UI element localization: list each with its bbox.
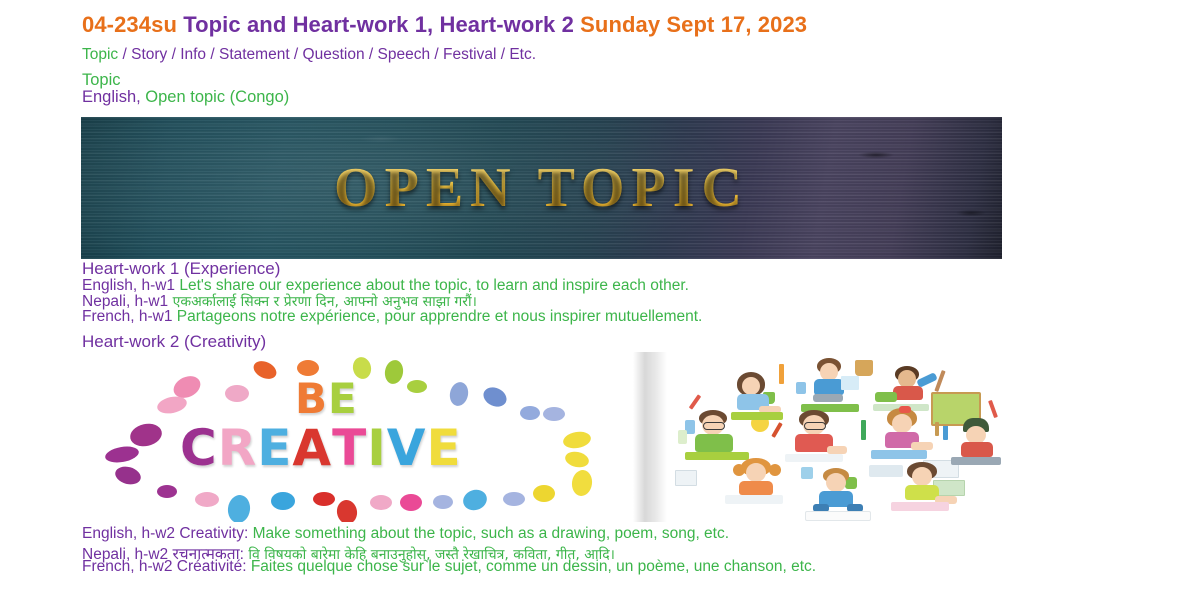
splash-drop bbox=[251, 358, 280, 383]
child-body bbox=[739, 481, 773, 495]
splash-drop bbox=[400, 494, 422, 511]
topic-lang-label: English, bbox=[82, 88, 141, 106]
splash-drop bbox=[128, 421, 164, 449]
word-creative: CREATIVE bbox=[180, 419, 462, 477]
hw1-french-text: Partageons notre expérience, pour appren… bbox=[172, 308, 702, 325]
letter-t: T bbox=[332, 419, 367, 477]
child-figure bbox=[871, 408, 937, 462]
letter-c: C bbox=[180, 419, 218, 477]
be-creative-graphic: BE CREATIVE bbox=[85, 352, 625, 522]
supply-paper bbox=[841, 376, 859, 390]
child-head bbox=[746, 463, 766, 482]
child-figure bbox=[805, 468, 875, 520]
child-hair-bow bbox=[899, 406, 911, 413]
child-head bbox=[912, 467, 932, 486]
splash-drop bbox=[370, 495, 392, 510]
splash-drop bbox=[460, 487, 489, 513]
heart-work-1-title: Heart-work 1 (Experience) bbox=[82, 259, 280, 279]
page-title: 04-234su Topic and Heart-work 1, Heart-w… bbox=[82, 12, 807, 38]
splash-drop bbox=[480, 384, 509, 410]
child-glasses bbox=[804, 422, 826, 430]
splash-drop bbox=[533, 485, 555, 502]
child-figure bbox=[801, 358, 863, 416]
splash-drop bbox=[407, 380, 427, 393]
child-body bbox=[961, 442, 993, 457]
splash-drop bbox=[433, 495, 453, 509]
child-leg bbox=[813, 394, 843, 402]
splash-drop bbox=[383, 359, 405, 386]
child-mat bbox=[871, 450, 927, 459]
hw2-french-text: Faites quelque chose sur le sujet, comme… bbox=[247, 558, 817, 575]
child-pigtail bbox=[769, 464, 781, 476]
letter-e: E bbox=[257, 419, 292, 477]
supply-paper bbox=[675, 470, 697, 486]
child-figure bbox=[783, 410, 851, 464]
letter-r: R bbox=[218, 419, 258, 477]
child-pigtail bbox=[733, 464, 745, 476]
title-date: Sunday Sept 17, 2023 bbox=[580, 12, 807, 37]
splash-drop bbox=[448, 380, 471, 407]
category-first: Topic bbox=[82, 46, 118, 63]
letter-i: I bbox=[367, 419, 387, 477]
child-figure bbox=[725, 458, 791, 506]
child-head bbox=[826, 473, 846, 492]
splash-drop bbox=[562, 430, 592, 451]
splash-drop bbox=[543, 407, 565, 421]
hw1-french-label: French, h-w1 bbox=[82, 308, 172, 325]
supply-toy-car bbox=[875, 392, 897, 402]
splash-drop bbox=[156, 394, 189, 416]
topic-value-line: English, Open topic (Congo) bbox=[82, 88, 289, 107]
title-main: Topic and Heart-work 1, Heart-work 2 bbox=[177, 12, 580, 37]
splash-drop bbox=[503, 492, 525, 506]
supply-pencil bbox=[988, 400, 998, 418]
splash-drop bbox=[104, 444, 140, 465]
child-mat bbox=[785, 454, 843, 462]
splash-drop bbox=[225, 385, 249, 402]
child-leg bbox=[827, 446, 847, 454]
splash-drop bbox=[271, 492, 295, 510]
child-leg bbox=[916, 372, 938, 388]
splash-drop bbox=[335, 498, 359, 522]
be-creative-illustration: BE CREATIVE bbox=[85, 352, 625, 522]
splash-drop bbox=[157, 485, 177, 498]
heart-work-2-english-line: English, h-w2 Creativity: Make something… bbox=[82, 525, 729, 543]
open-topic-banner-image: OPEN TOPIC bbox=[81, 117, 1002, 259]
child-body bbox=[893, 386, 923, 400]
heart-work-2-title: Heart-work 2 (Creativity) bbox=[82, 332, 266, 352]
child-figure bbox=[685, 410, 755, 462]
category-list: Topic / Story / Info / Statement / Quest… bbox=[82, 46, 536, 64]
hw2-english-text: Make something about the topic, such as … bbox=[248, 525, 729, 542]
letter-e: E bbox=[328, 374, 358, 423]
letter-b: B bbox=[295, 374, 328, 423]
child-head bbox=[742, 377, 760, 395]
splash-drop bbox=[226, 494, 252, 522]
image-left-gradient-edge bbox=[633, 352, 667, 522]
supply-pencil bbox=[771, 422, 782, 438]
splash-drop bbox=[564, 450, 591, 470]
banner-text: OPEN TOPIC bbox=[81, 156, 1002, 220]
child-body bbox=[814, 379, 844, 395]
child-head bbox=[892, 414, 912, 433]
letter-e2: E bbox=[427, 419, 462, 477]
child-mat bbox=[891, 502, 949, 511]
category-rest: / Story / Info / Statement / Question / … bbox=[118, 46, 536, 63]
word-be: BE bbox=[295, 374, 358, 423]
document-page: 04-234su Topic and Heart-work 1, Heart-w… bbox=[0, 0, 1200, 600]
topic-value: Open topic (Congo) bbox=[141, 88, 290, 106]
child-mat bbox=[805, 511, 871, 521]
child-mat bbox=[725, 495, 783, 504]
letter-a: A bbox=[292, 419, 332, 477]
child-body bbox=[695, 434, 733, 452]
children-crafts-illustration bbox=[633, 352, 1021, 522]
splash-drop bbox=[570, 469, 593, 498]
splash-drop bbox=[313, 492, 335, 506]
splash-drop bbox=[113, 464, 143, 487]
supply-pencil bbox=[689, 394, 701, 409]
splash-drop bbox=[520, 406, 540, 420]
title-code: 04-234su bbox=[82, 12, 177, 37]
child-figure bbox=[891, 462, 961, 512]
heart-work-2-french-line: French, h-w2 Créativité: Faites quelque … bbox=[82, 558, 816, 576]
child-body bbox=[905, 485, 939, 500]
child-figure bbox=[949, 418, 1007, 468]
letter-v: V bbox=[387, 419, 427, 477]
hw2-english-label: English, h-w2 Creativity: bbox=[82, 525, 248, 542]
child-leg bbox=[911, 442, 933, 450]
splash-drop bbox=[195, 492, 219, 507]
heart-work-1-french-line: French, h-w1 Partageons notre expérience… bbox=[82, 308, 702, 326]
hw2-french-label: French, h-w2 Créativité: bbox=[82, 558, 247, 575]
child-glasses bbox=[703, 422, 725, 430]
supply-marker bbox=[861, 420, 866, 440]
